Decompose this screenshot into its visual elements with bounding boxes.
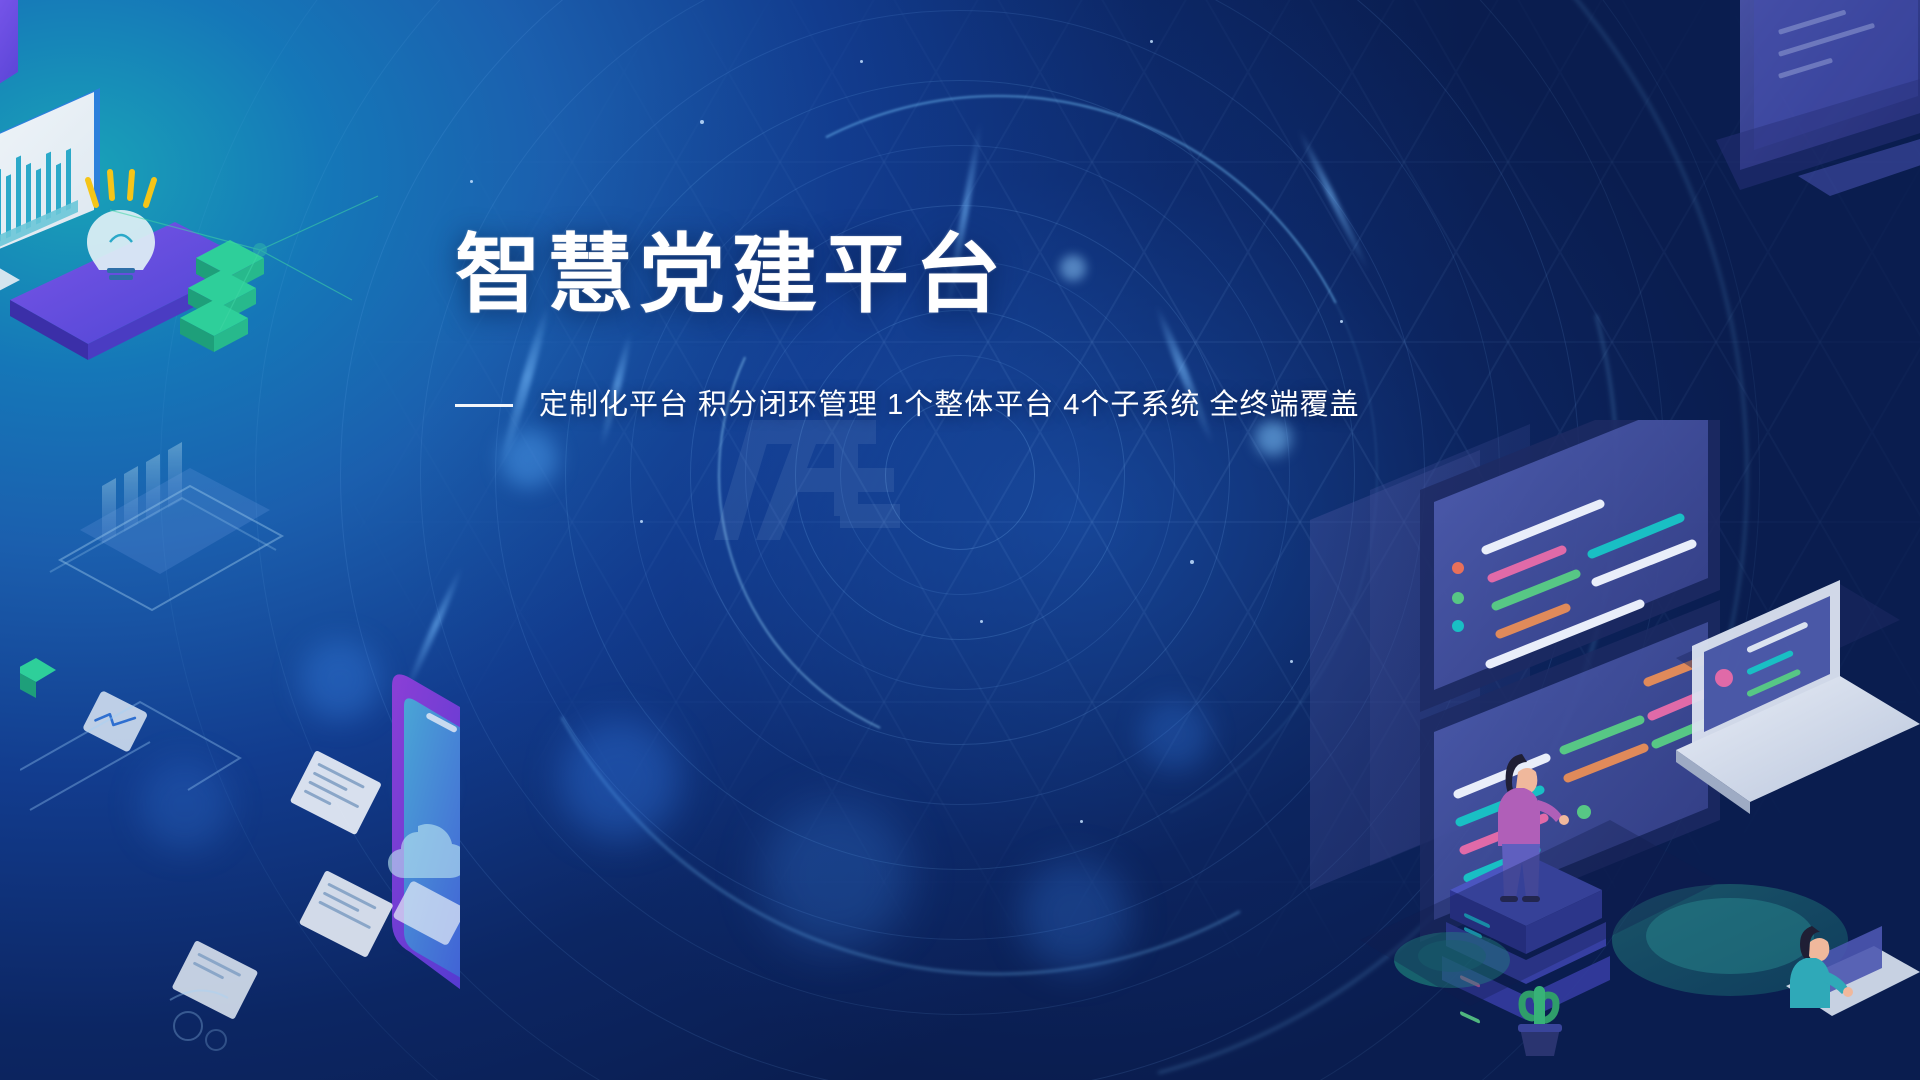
page-title: 智慧党建平台 [455,232,1455,318]
sparkle-dot [470,180,473,183]
left-bottom-illustration [20,440,460,1080]
bokeh-dot [1255,420,1291,456]
sparkle-dot [640,520,643,523]
arc-highlight [640,116,1358,834]
bokeh-dot [560,720,680,840]
hero-banner: 智慧党建平台 定制化平台 积分闭环管理 1个整体平台 4个子系统 全终端覆盖 [0,0,1920,1080]
bokeh-dot [760,800,910,950]
sparkle-dot [1190,560,1194,564]
sparkle-dot [980,620,983,623]
green-cube [20,658,56,698]
mini-chart-card [82,690,148,753]
person2-top [1790,958,1830,1008]
cactus-body [1534,986,1545,1030]
sparkle-dot [700,120,704,124]
sparkle-dot [1080,820,1083,823]
page-subtitle: 定制化平台 积分闭环管理 1个整体平台 4个子系统 全终端覆盖 [539,388,1360,423]
sparkle-dot [860,60,863,63]
sparkle-dot [1150,40,1153,43]
right-main-illustration [1300,420,1920,1080]
person-hand [1559,815,1569,825]
bokeh-dot [1020,860,1130,970]
left-top-illustration [0,0,380,420]
subtitle-dash [455,404,513,407]
right-top-illustration [1530,0,1920,320]
potted-cactus [1518,986,1562,1056]
purple-box-decor [0,0,18,110]
subtitle-row: 定制化平台 积分闭环管理 1个整体平台 4个子系统 全终端覆盖 [455,388,1455,423]
bokeh-dot [1140,700,1210,770]
bokeh-dot [500,430,558,488]
bulb-base [107,268,135,273]
cactus-pot [1520,1028,1560,1056]
party-emblem-icon [714,420,900,540]
sparkle-dot [1290,660,1293,663]
hero-text-block: 智慧党建平台 定制化平台 积分闭环管理 1个整体平台 4个子系统 全终端覆盖 [455,232,1455,423]
isometric-smartphone [388,674,460,1001]
person-top [1498,788,1540,846]
document-cards [171,750,393,1020]
book-shelf [50,442,282,610]
